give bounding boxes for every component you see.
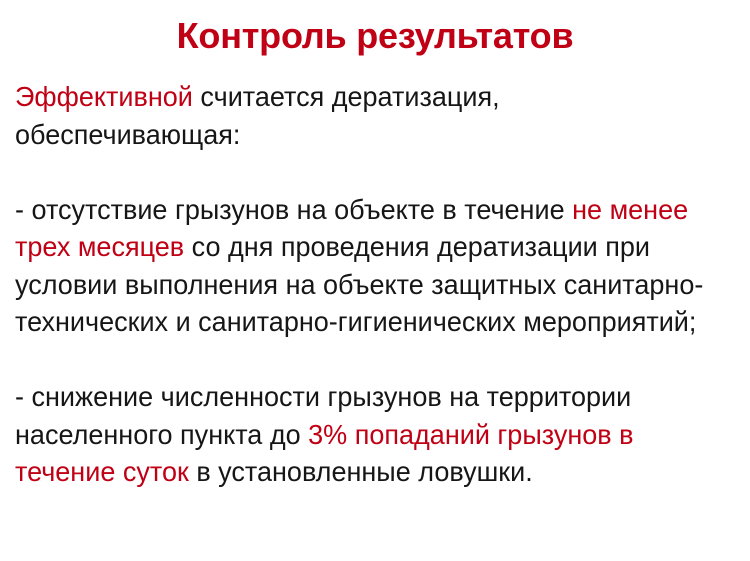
page-title: Контроль результатов bbox=[0, 14, 750, 58]
paragraph-bullet-2: - снижение численности грызунов на терри… bbox=[15, 378, 712, 491]
bullet-1-lead: - отсутствие грызунов на объекте в течен… bbox=[15, 194, 572, 225]
paragraph-spacer-2 bbox=[15, 341, 712, 379]
paragraph-bullet-1: - отсутствие грызунов на объекте в течен… bbox=[15, 191, 712, 341]
bullet-2-tail: в установленные ловушки. bbox=[189, 456, 533, 487]
paragraph-spacer-1 bbox=[15, 153, 712, 191]
highlight-effective: Эффективной bbox=[15, 81, 193, 112]
slide-body: Эффективной считается дератизация, обесп… bbox=[15, 78, 712, 491]
paragraph-intro: Эффективной считается дератизация, обесп… bbox=[15, 78, 712, 153]
slide-canvas: Контроль результатов Эффективной считает… bbox=[0, 0, 750, 561]
